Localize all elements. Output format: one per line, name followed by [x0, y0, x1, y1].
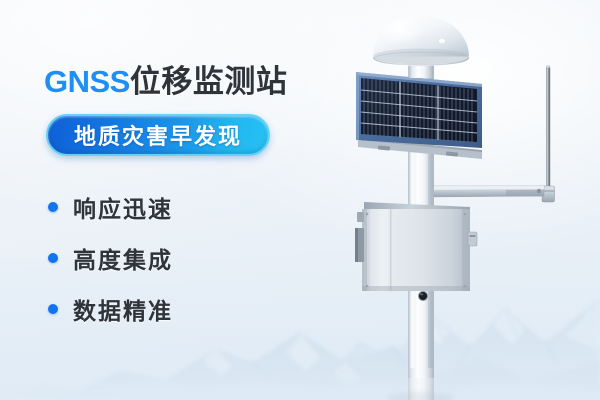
marketing-copy-block: GNSS位移监测站 地质灾害早发现 响应迅速 高度集成 数据精准 — [0, 0, 340, 400]
gnss-dome-antenna — [373, 16, 469, 79]
whip-antenna — [542, 65, 555, 202]
list-item: 数据精准 — [48, 283, 308, 334]
page-title: GNSS位移监测站 — [44, 56, 287, 101]
feature-label: 数据精准 — [73, 292, 173, 326]
solar-panel — [356, 72, 482, 159]
gnss-product-banner: 环境监测站 GNSS位移监测站 地质灾害早发现 响应迅速 高度集成 数据精准 — [0, 0, 600, 400]
feature-label: 响应迅速 — [73, 190, 173, 224]
feature-list: 响应迅速 高度集成 数据精准 — [48, 181, 308, 334]
feature-label: 高度集成 — [73, 241, 173, 275]
equipment-enclosure — [355, 202, 477, 291]
bullet-dot-icon — [48, 253, 58, 263]
list-item: 响应迅速 — [48, 181, 308, 232]
bullet-dot-icon — [48, 202, 58, 212]
headline-chinese: 位移监测站 — [130, 64, 288, 99]
tagline-badge-label: 地质灾害早发现 — [74, 119, 242, 151]
device-ground-shadow — [387, 392, 455, 400]
antenna-bracket-arm — [420, 180, 544, 202]
tagline-badge: 地质灾害早发现 — [46, 114, 270, 156]
headline-brand: GNSS — [44, 64, 130, 99]
bullet-dot-icon — [48, 304, 58, 314]
gnss-monitoring-station-device: 环境监测站 — [330, 0, 600, 400]
list-item: 高度集成 — [48, 232, 308, 283]
